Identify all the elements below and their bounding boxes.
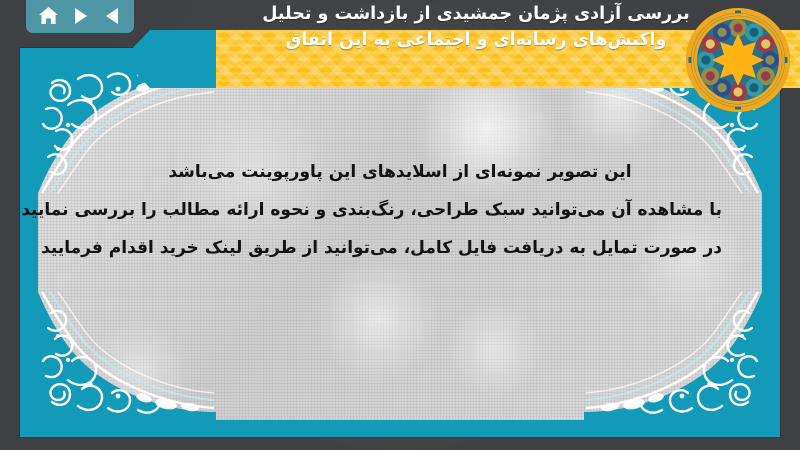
- slide-canvas: این تصویر نمونه‌ای از اسلایدهای این پاور…: [38, 65, 762, 420]
- previous-slide-button[interactable]: [99, 4, 125, 28]
- slide-body-text: این تصویر نمونه‌ای از اسلایدهای این پاور…: [78, 153, 722, 267]
- body-line-3: در صورت تمایل به دریافت فایل کامل، می‌تو…: [78, 229, 722, 267]
- slide-navigation-bar: [26, 0, 134, 33]
- next-slide-button[interactable]: [67, 4, 93, 28]
- triangle-right-icon: [72, 7, 89, 25]
- triangle-left-icon: [104, 7, 121, 25]
- corner-ornament-bottom-left: [38, 292, 216, 420]
- slide-viewer: این تصویر نمونه‌ای از اسلایدهای این پاور…: [0, 0, 800, 450]
- body-line-2: با مشاهده آن می‌توانید سبک طراحی، رنگ‌بن…: [78, 191, 722, 229]
- home-icon: [38, 6, 59, 26]
- slide-frame: این تصویر نمونه‌ای از اسلایدهای این پاور…: [20, 48, 780, 437]
- ornamental-medallion-icon: [684, 6, 792, 114]
- body-line-1: این تصویر نمونه‌ای از اسلایدهای این پاور…: [78, 153, 722, 191]
- corner-ornament-bottom-right: [584, 292, 762, 420]
- banner-arrow-shape: [122, 30, 216, 88]
- home-button[interactable]: [35, 4, 61, 28]
